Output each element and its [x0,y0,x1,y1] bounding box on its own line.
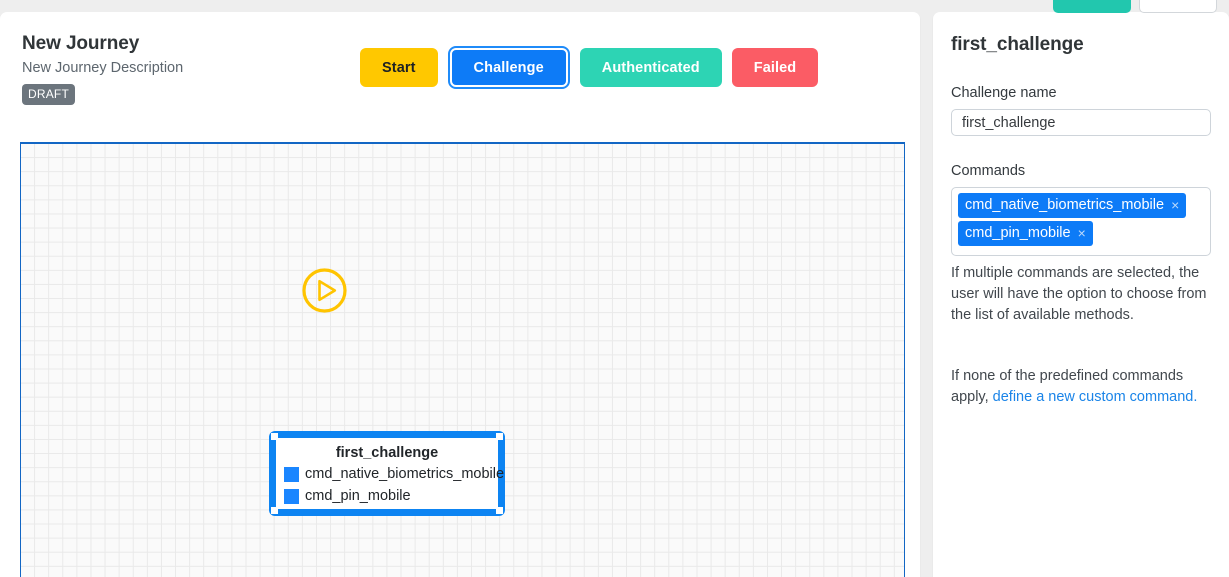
journey-header: New Journey New Journey Description DRAF… [22,32,183,105]
remove-chip-icon[interactable]: × [1078,226,1086,240]
start-node[interactable] [301,267,348,314]
journey-editor-page: New Journey New Journey Description DRAF… [0,0,1229,577]
define-custom-command-link[interactable]: define a new custom command. [993,389,1198,405]
tab-challenge[interactable]: Challenge [450,48,568,87]
page-title: New Journey [22,32,183,56]
challenge-node[interactable]: first_challenge cmd_native_biometrics_mo… [269,431,505,516]
challenge-node-command-row: cmd_pin_mobile [284,486,490,507]
challenge-node-title: first_challenge [284,443,490,463]
journey-editor-card: New Journey New Journey Description DRAF… [0,12,920,577]
resize-handle-top-left[interactable] [271,433,278,440]
command-chip[interactable]: cmd_pin_mobile × [958,221,1093,246]
command-chip[interactable]: cmd_native_biometrics_mobile × [958,193,1186,218]
state-tab-bar: Start Challenge Authenticated Failed [360,48,818,87]
remove-chip-icon[interactable]: × [1171,198,1179,212]
command-chip-label: cmd_pin_mobile [965,224,1071,242]
journey-description: New Journey Description [22,58,183,78]
challenge-node-command-label: cmd_pin_mobile [305,486,411,507]
challenge-node-body: first_challenge cmd_native_biometrics_mo… [273,435,501,512]
challenge-node-command-row: cmd_native_biometrics_mobile [284,464,490,485]
page-action-bar [1053,0,1217,13]
custom-command-help-text: If none of the predefined commands apply… [951,366,1207,408]
tab-failed[interactable]: Failed [732,48,819,87]
tab-start[interactable]: Start [360,48,438,87]
challenge-node-command-label: cmd_native_biometrics_mobile [305,464,504,485]
resize-handle-bottom-left[interactable] [271,507,278,514]
command-swatch-icon [284,489,299,504]
secondary-action-button[interactable] [1139,0,1217,13]
flow-canvas[interactable]: first_challenge cmd_native_biometrics_mo… [20,142,905,577]
command-swatch-icon [284,467,299,482]
play-circle-icon [301,267,348,314]
commands-help-text: If multiple commands are selected, the u… [951,263,1207,326]
tab-authenticated[interactable]: Authenticated [580,48,722,87]
commands-multiselect[interactable]: cmd_native_biometrics_mobile × cmd_pin_m… [951,187,1211,256]
inspector-title: first_challenge [951,32,1211,58]
challenge-inspector-panel: first_challenge Challenge name Commands … [933,12,1229,577]
challenge-name-label: Challenge name [951,84,1211,102]
command-chip-label: cmd_native_biometrics_mobile [965,196,1164,214]
save-journey-button[interactable] [1053,0,1131,13]
resize-handle-top-right[interactable] [496,433,503,440]
status-badge: DRAFT [22,84,75,105]
challenge-name-input[interactable] [951,109,1211,136]
resize-handle-bottom-right[interactable] [496,507,503,514]
commands-label: Commands [951,162,1211,180]
